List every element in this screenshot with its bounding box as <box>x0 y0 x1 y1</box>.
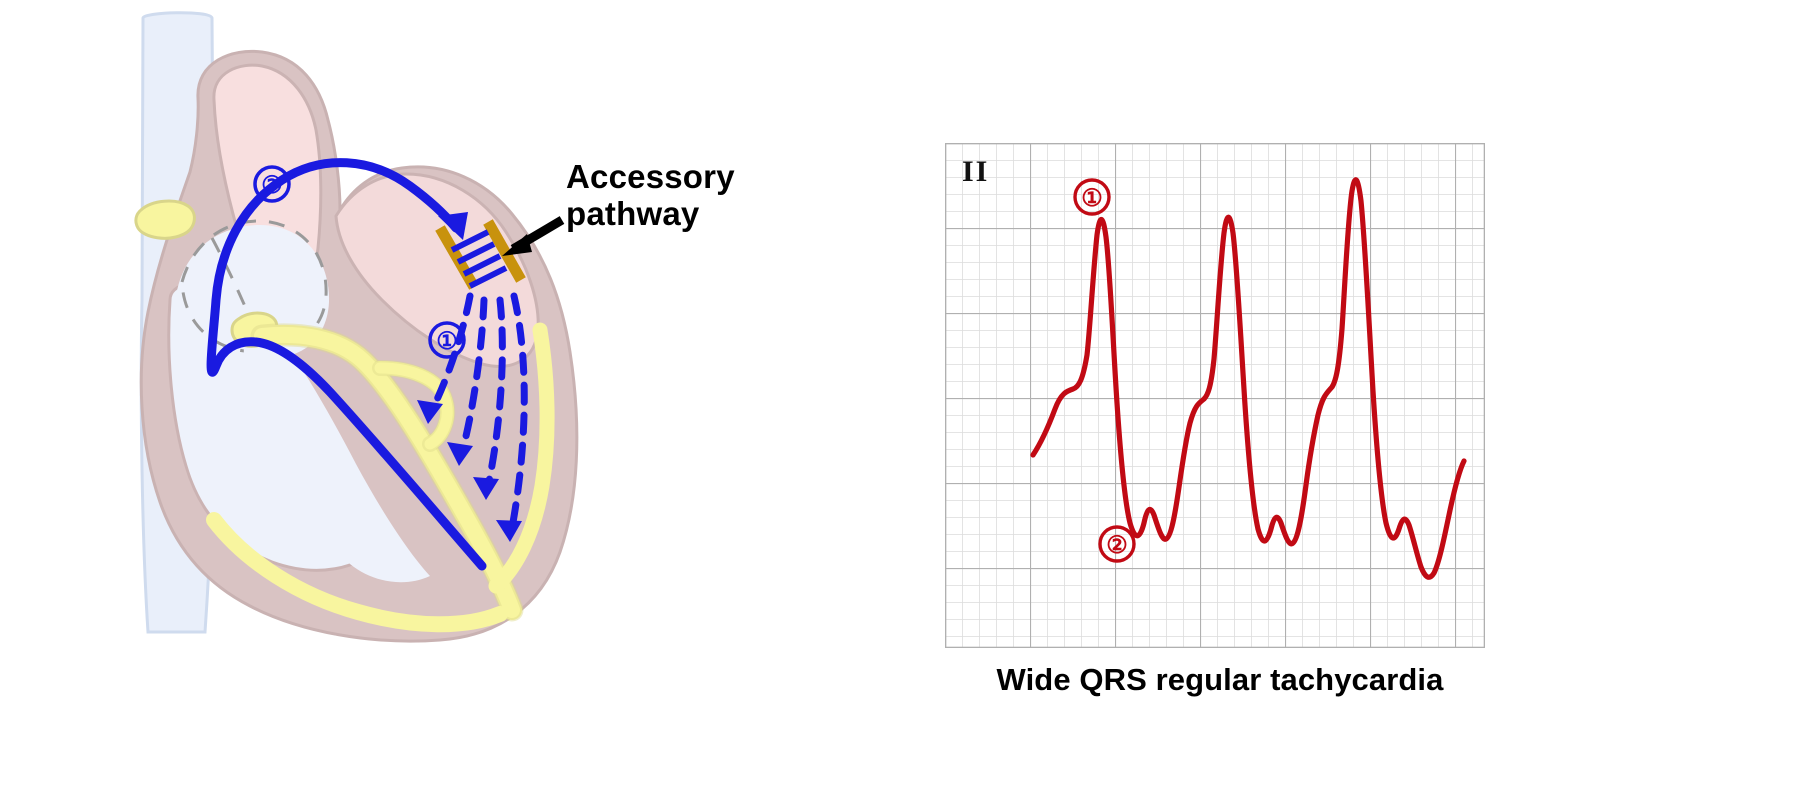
ecg-grid: ① ② <box>945 143 1485 648</box>
ecg-panel: ① ② II Wide QRS regular tachycardia <box>900 0 1802 798</box>
heart-marker-two-text: ② <box>261 172 283 199</box>
ecg-lead-label: II <box>962 155 989 189</box>
accessory-pathway-label: Accessory pathway <box>566 159 735 233</box>
av-node <box>136 201 195 238</box>
heart-diagram-panel: ② ① Accessory pathway <box>0 0 900 798</box>
heart-marker-one-text: ① <box>436 328 458 355</box>
heart-svg: ② ① <box>0 0 900 798</box>
ecg-marker-two-text: ② <box>1106 532 1128 559</box>
figure-root: ② ① Accessory pathway <box>0 0 1802 798</box>
ecg-marker-one-text: ① <box>1081 185 1103 212</box>
ecg-caption: Wide QRS regular tachycardia <box>900 662 1540 698</box>
ecg-trace-svg: ① ② <box>945 143 1485 648</box>
